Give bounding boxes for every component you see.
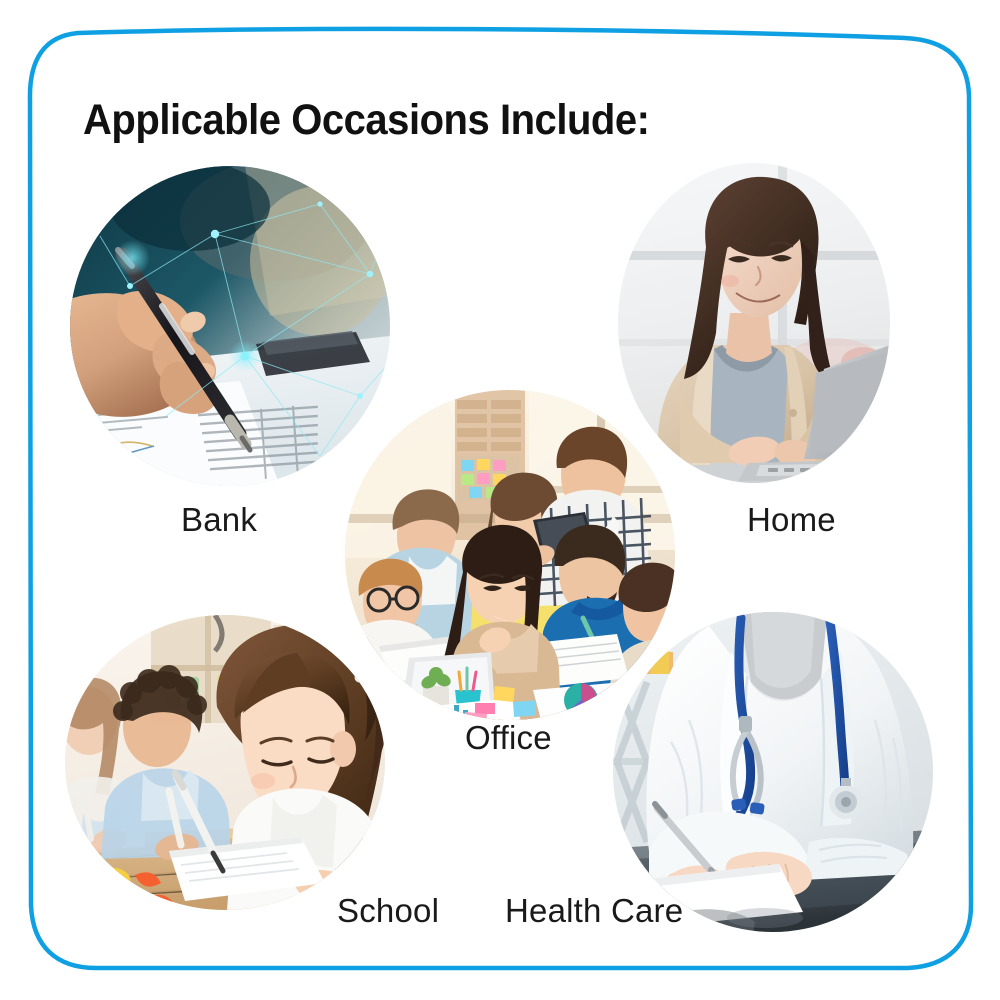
bank-photo	[70, 166, 390, 486]
page-title: Applicable Occasions Include:	[83, 96, 650, 145]
occasion-image-school	[65, 615, 385, 910]
school-photo	[65, 615, 385, 910]
home-photo	[618, 163, 890, 483]
occasion-label-health-care: Health Care	[505, 892, 683, 930]
occasion-label-school: School	[337, 892, 439, 930]
occasion-label-office: Office	[465, 719, 552, 757]
occasion-label-home: Home	[747, 501, 836, 539]
occasion-label-bank: Bank	[181, 501, 257, 539]
office-photo	[345, 390, 675, 720]
promotional-banner: Applicable Occasions Include:	[0, 0, 1000, 1000]
health-care-photo	[613, 612, 933, 932]
occasion-image-office	[345, 390, 675, 720]
occasion-image-home	[618, 163, 890, 483]
occasion-image-health-care	[613, 612, 933, 932]
occasion-image-bank	[70, 166, 390, 486]
